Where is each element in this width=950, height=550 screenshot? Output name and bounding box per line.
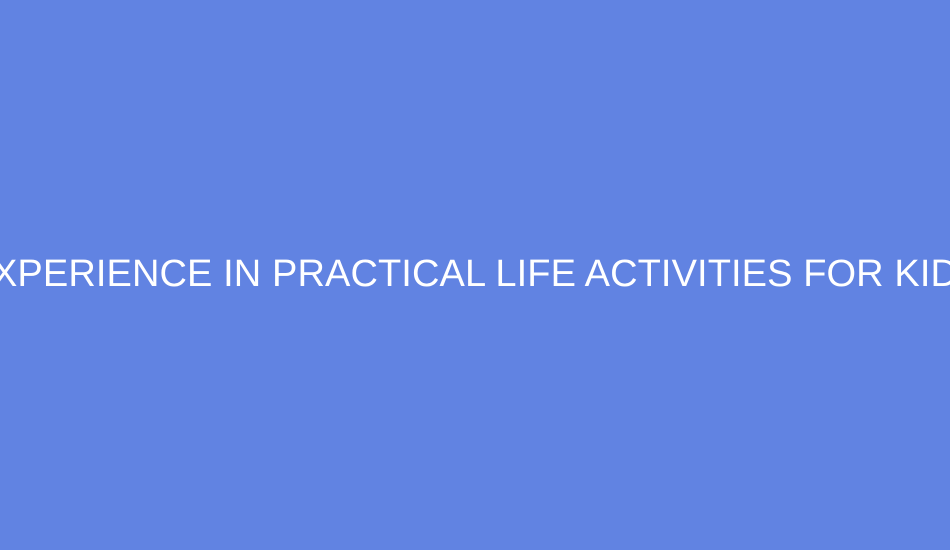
banner-title: EXPERIENCE IN PRACTICAL LIFE ACTIVITIES … (0, 251, 950, 299)
banner-card: EXPERIENCE IN PRACTICAL LIFE ACTIVITIES … (0, 0, 950, 550)
